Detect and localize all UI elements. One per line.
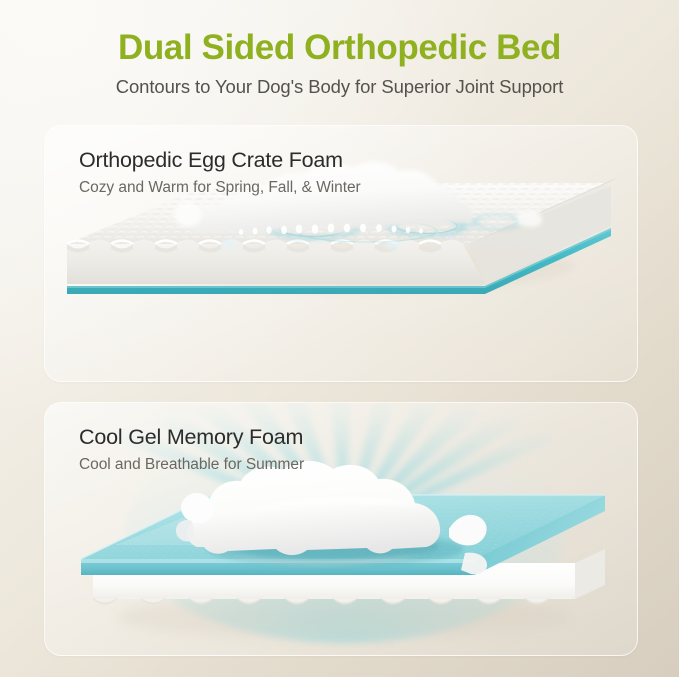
card-2-heading: Cool Gel Memory Foam (79, 425, 304, 450)
infographic-page: Dual Sided Orthopedic Bed Contours to Yo… (0, 0, 679, 677)
card-1-subheading: Cozy and Warm for Spring, Fall, & Winter (79, 173, 361, 197)
card-1-text-block: Orthopedic Egg Crate Foam Cozy and Warm … (79, 148, 361, 197)
feature-card-cool-gel-memory-foam: Cool Gel Memory Foam Cool and Breathable… (44, 402, 638, 656)
feature-card-egg-crate-foam: Orthopedic Egg Crate Foam Cozy and Warm … (44, 125, 638, 382)
card-2-subheading: Cool and Breathable for Summer (79, 450, 304, 474)
header: Dual Sided Orthopedic Bed Contours to Yo… (0, 0, 679, 98)
page-subtitle: Contours to Your Dog's Body for Superior… (0, 67, 679, 98)
card-1-heading: Orthopedic Egg Crate Foam (79, 148, 361, 173)
card-2-text-block: Cool Gel Memory Foam Cool and Breathable… (79, 425, 304, 474)
page-title: Dual Sided Orthopedic Bed (0, 0, 679, 67)
